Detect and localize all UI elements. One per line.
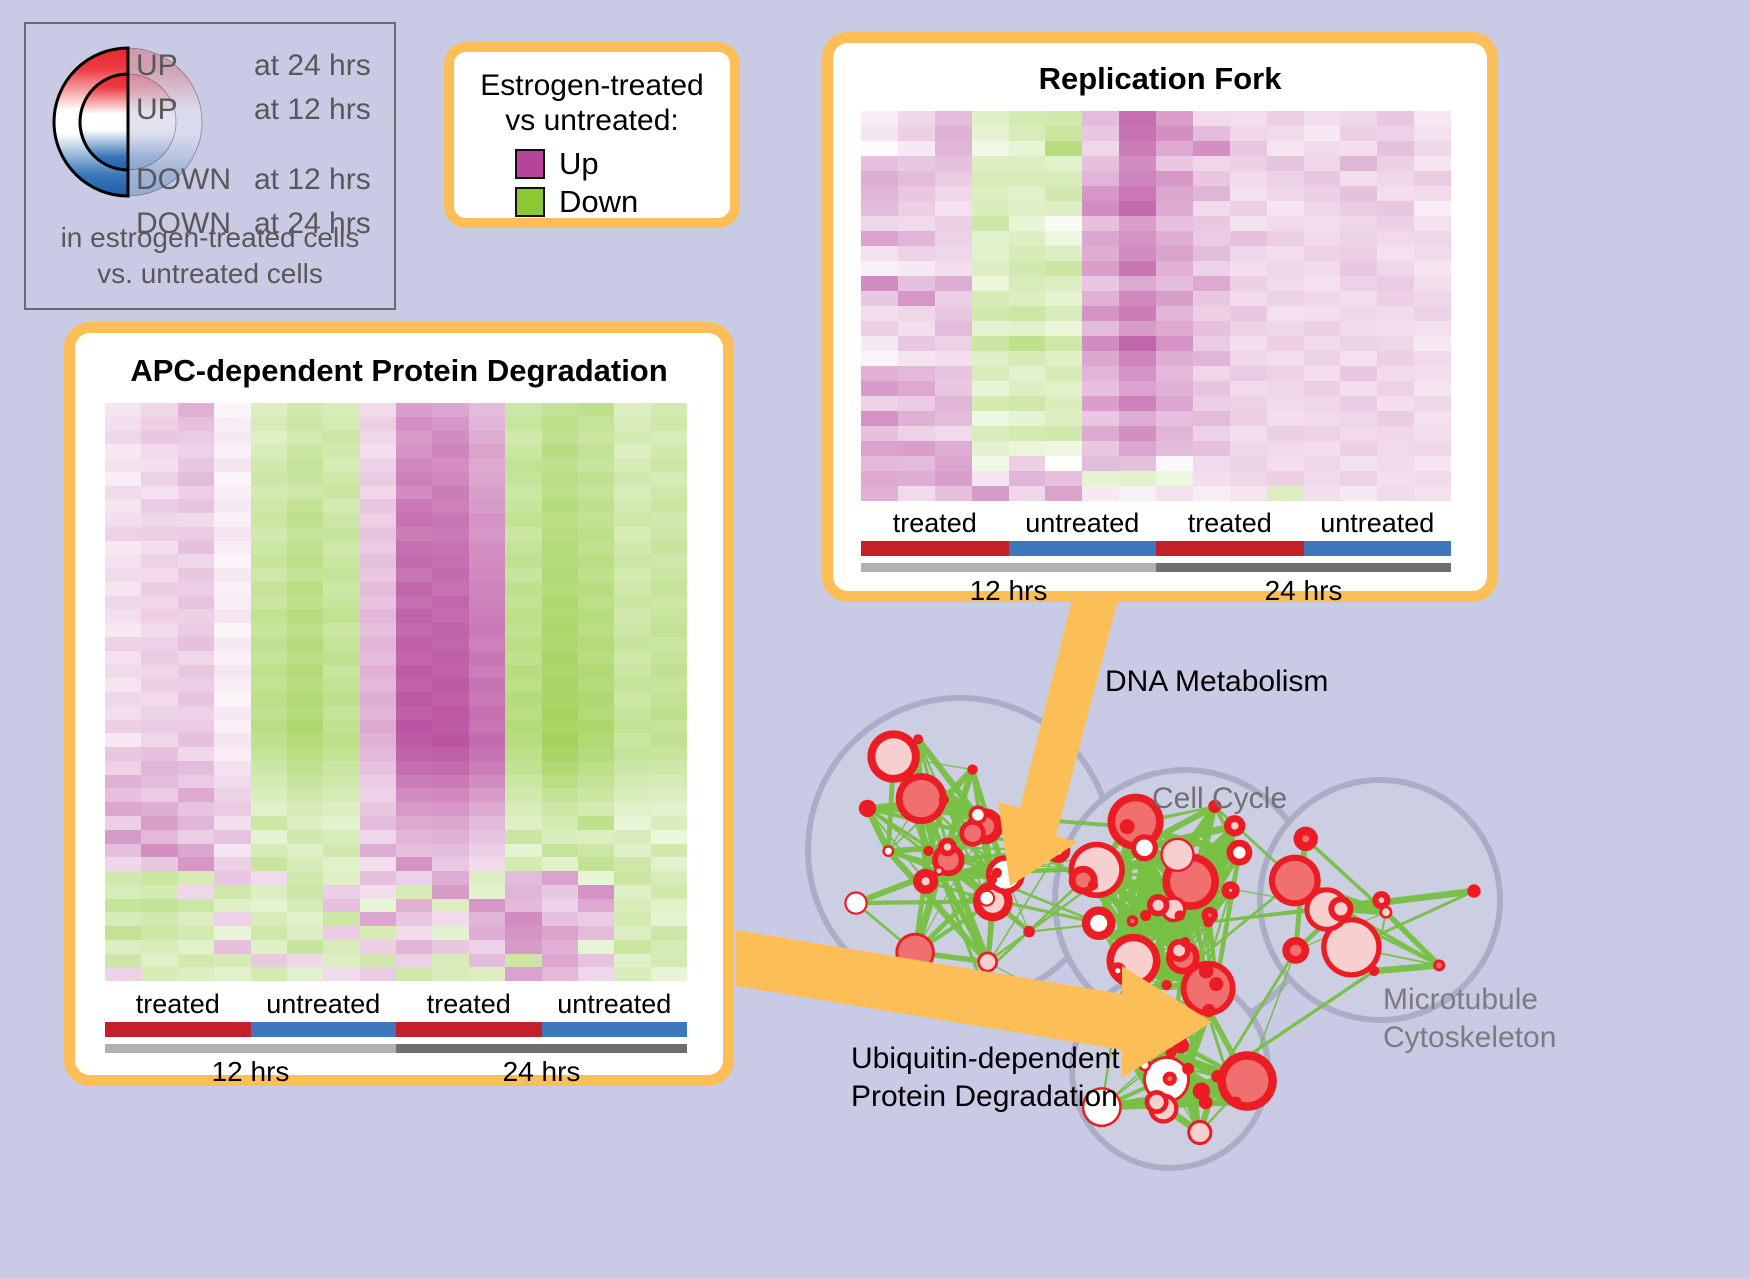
heatmap-cell <box>1082 351 1119 366</box>
heatmap-cell <box>614 554 650 568</box>
group-bar-segment <box>1304 541 1452 556</box>
heatmap-row <box>105 899 687 913</box>
heatmap-cell <box>432 816 468 830</box>
heatmap-cell <box>105 472 141 486</box>
network-node-core <box>1302 835 1309 842</box>
heatmap-cell <box>1377 321 1414 336</box>
heatmap-cell <box>1119 111 1156 126</box>
heatmap-cell <box>1045 291 1082 306</box>
heatmap-cell <box>651 554 687 568</box>
heatmap-cell <box>651 403 687 417</box>
time-label: 24 hrs <box>396 1056 687 1088</box>
heatmap-cell <box>396 775 432 789</box>
network-node-core <box>1233 847 1245 859</box>
heatmap-cell <box>1156 471 1193 486</box>
heatmap-cell <box>651 444 687 458</box>
heatmap-cell <box>1304 186 1341 201</box>
heatmap-cell <box>323 678 359 692</box>
heatmap-cell <box>287 788 323 802</box>
heatmap-cell <box>105 527 141 541</box>
heatmap-cell <box>1377 216 1414 231</box>
heatmap-cell <box>1119 426 1156 441</box>
network-node[interactable] <box>1182 1063 1194 1075</box>
heatmap-cell <box>141 912 177 926</box>
heatmap-cell <box>542 788 578 802</box>
heatmap-cell <box>178 665 214 679</box>
heatmap-cell <box>614 954 650 968</box>
heatmap-cell <box>178 733 214 747</box>
network-node[interactable] <box>1105 1024 1121 1040</box>
heatmap-cell <box>1230 276 1267 291</box>
heatmap-cell <box>505 417 541 431</box>
heatmap-cell <box>1377 441 1414 456</box>
heatmap-row <box>861 366 1451 381</box>
heatmap-cell <box>861 216 898 231</box>
heatmap-cell <box>614 844 650 858</box>
heatmap-cell <box>898 126 935 141</box>
heatmap-cell <box>578 885 614 899</box>
heatmap-cell <box>505 830 541 844</box>
heatmap-cell <box>360 830 396 844</box>
heatmap-cell <box>396 940 432 954</box>
heatmap-cell <box>505 775 541 789</box>
network-node[interactable] <box>1231 1097 1242 1108</box>
heatmap-cell <box>469 720 505 734</box>
heatmap-cell <box>178 431 214 445</box>
heatmap-cell <box>432 885 468 899</box>
heatmap-cell <box>1009 321 1046 336</box>
heatmap-cell <box>1340 126 1377 141</box>
heatmap-cell <box>1267 171 1304 186</box>
heatmap-cell <box>505 665 541 679</box>
heatmap-cell <box>1193 456 1230 471</box>
heatmap-cell <box>1156 426 1193 441</box>
heatmap-cell <box>214 513 250 527</box>
heatmap-cell <box>105 857 141 871</box>
network-node[interactable] <box>923 846 933 856</box>
heatmap-row <box>105 926 687 940</box>
network-node[interactable] <box>1211 1070 1224 1083</box>
heatmap-cell <box>469 541 505 555</box>
heatmap-cell <box>105 954 141 968</box>
heatmap-cell <box>1082 246 1119 261</box>
heatmap-cell <box>396 816 432 830</box>
network-node-core <box>937 868 942 873</box>
heatmap-cell <box>1119 276 1156 291</box>
heatmap-cell <box>432 637 468 651</box>
heatmap-cell <box>1119 231 1156 246</box>
heatmap-cell <box>542 844 578 858</box>
heatmap-cell <box>214 912 250 926</box>
heatmap-cell <box>1009 306 1046 321</box>
heatmap-cell <box>651 747 687 761</box>
heatmap-cell <box>251 720 287 734</box>
network-node[interactable] <box>1209 977 1223 991</box>
heatmap-cell <box>360 582 396 596</box>
heatmap-cell <box>542 857 578 871</box>
heatmap-cell <box>1009 411 1046 426</box>
heatmap-cell <box>287 554 323 568</box>
network-node-core <box>1130 919 1134 923</box>
heatmap-cell <box>651 788 687 802</box>
heatmap-cell <box>578 899 614 913</box>
heatmap-cell <box>251 568 287 582</box>
heatmap-cell <box>505 637 541 651</box>
heatmap-cell <box>935 336 972 351</box>
group-bar-segment <box>861 541 1009 556</box>
heatmap-cell <box>105 967 141 981</box>
heatmap-cell <box>105 788 141 802</box>
heatmap-cell <box>432 417 468 431</box>
heatmap-cell <box>1267 216 1304 231</box>
heatmap-cell <box>505 733 541 747</box>
heatmap-cell <box>323 472 359 486</box>
network-node[interactable] <box>1369 966 1379 976</box>
heatmap-cell <box>1304 321 1341 336</box>
heatmap-cell <box>141 899 177 913</box>
heatmap-cell <box>214 954 250 968</box>
heatmap-cell <box>651 692 687 706</box>
heatmap-cell <box>141 954 177 968</box>
heatmap-cell <box>614 472 650 486</box>
heatmap-cell <box>1414 351 1451 366</box>
heatmap-cell <box>651 609 687 623</box>
heatmap-cell <box>578 844 614 858</box>
heatmap-cell <box>972 201 1009 216</box>
heatmap-cell <box>396 830 432 844</box>
network-node[interactable] <box>1023 926 1035 938</box>
network-node[interactable] <box>1203 917 1213 927</box>
heatmap-cell <box>1045 201 1082 216</box>
heatmap-cell <box>614 403 650 417</box>
heatmap-cell <box>614 871 650 885</box>
heatmap-cell <box>432 733 468 747</box>
heatmap-cell <box>469 623 505 637</box>
heatmap-cell <box>287 609 323 623</box>
group-bar-segment <box>1156 541 1304 556</box>
heatmap-cell <box>1045 171 1082 186</box>
heatmap-cell <box>360 499 396 513</box>
heatmap-cell <box>105 733 141 747</box>
network-node-core <box>847 894 866 913</box>
heatmap-cell <box>1082 141 1119 156</box>
heatmap-cell <box>141 609 177 623</box>
cluster-label-ubiquitin-degradation: Ubiquitin-dependent Protein Degradation <box>851 1040 1120 1116</box>
heatmap-cell <box>505 954 541 968</box>
heatmap-cell <box>1377 276 1414 291</box>
heatmap-cell <box>432 499 468 513</box>
heatmap-cell <box>972 426 1009 441</box>
heatmap-cell <box>505 651 541 665</box>
heatmap-cell <box>141 775 177 789</box>
heatmap-cell <box>1045 186 1082 201</box>
heatmap-cell <box>972 441 1009 456</box>
heatmap-cell <box>614 857 650 871</box>
heatmap-row <box>105 830 687 844</box>
heatmap-cell <box>1119 201 1156 216</box>
heatmap-cell <box>1340 306 1377 321</box>
heatmap-cell <box>935 411 972 426</box>
heatmap-cell <box>1045 246 1082 261</box>
heatmap-cell <box>1230 261 1267 276</box>
heatmap-row <box>105 403 687 417</box>
heatmap-cell <box>1193 396 1230 411</box>
heatmap-cell <box>614 431 650 445</box>
estrogen-legend-title: Estrogen-treated vs untreated: <box>454 68 730 139</box>
heatmap-cell <box>861 186 898 201</box>
heatmap-cell <box>396 623 432 637</box>
heatmap-cell <box>105 499 141 513</box>
heatmap-cell <box>1230 186 1267 201</box>
heatmap-cell <box>1009 486 1046 501</box>
network-node[interactable] <box>987 875 997 885</box>
heatmap-cell <box>651 417 687 431</box>
heatmap-cell <box>287 596 323 610</box>
heatmap-cell <box>323 954 359 968</box>
heatmap-row <box>105 609 687 623</box>
heatmap-cell <box>469 857 505 871</box>
heatmap-cell <box>251 747 287 761</box>
heatmap-cell <box>214 816 250 830</box>
heatmap-cell <box>1156 411 1193 426</box>
heatmap-cell <box>898 276 935 291</box>
heatmap-cell <box>469 637 505 651</box>
network-node[interactable] <box>1088 880 1098 890</box>
heatmap-cell <box>651 527 687 541</box>
heatmap-cell <box>251 582 287 596</box>
heatmap-cell <box>396 844 432 858</box>
heatmap-cell <box>651 720 687 734</box>
heatmap-cell <box>935 261 972 276</box>
network-node-core <box>972 809 984 821</box>
network-node[interactable] <box>913 734 923 744</box>
network-node[interactable] <box>1199 1096 1213 1110</box>
heatmap-cell <box>651 899 687 913</box>
heatmap-cell <box>614 499 650 513</box>
heatmap-row <box>105 816 687 830</box>
heatmap-cell <box>1267 441 1304 456</box>
heatmap-cell <box>469 665 505 679</box>
heatmap-cell <box>469 747 505 761</box>
heatmap-cell <box>505 403 541 417</box>
cluster-label-cell-cycle: Cell Cycle <box>1152 782 1287 816</box>
heatmap-cell <box>323 899 359 913</box>
heatmap-cell <box>1230 321 1267 336</box>
heatmap-cell <box>578 788 614 802</box>
heatmap-cell <box>251 788 287 802</box>
heatmap-cell <box>935 441 972 456</box>
network-node[interactable] <box>1180 937 1190 947</box>
network-node[interactable] <box>1166 1047 1177 1058</box>
heatmap-cell <box>1119 486 1156 501</box>
network-node[interactable] <box>1120 819 1135 834</box>
network-node-core <box>1229 889 1232 892</box>
apc-axis: treated untreated treated untreated 12 h… <box>105 989 687 1088</box>
heatmap-cell <box>1340 276 1377 291</box>
heatmap-cell <box>1156 441 1193 456</box>
heatmap-cell <box>1230 456 1267 471</box>
heatmap-cell <box>505 431 541 445</box>
heatmap-row <box>105 665 687 679</box>
heatmap-cell <box>432 926 468 940</box>
heatmap-cell <box>861 126 898 141</box>
heatmap-cell <box>614 802 650 816</box>
heatmap-cell <box>651 926 687 940</box>
column-label: treated <box>105 989 251 1020</box>
cluster-label-dna-metabolism: DNA Metabolism <box>1105 665 1328 699</box>
heatmap-cell <box>1156 456 1193 471</box>
heatmap-cell <box>469 609 505 623</box>
heatmap-cell <box>469 871 505 885</box>
heatmap-cell <box>542 733 578 747</box>
heatmap-cell <box>1414 336 1451 351</box>
network-node[interactable] <box>1175 910 1185 920</box>
heatmap-cell <box>1045 441 1082 456</box>
heatmap-cell <box>396 692 432 706</box>
network-node-core <box>1149 1095 1163 1109</box>
heatmap-cell <box>505 568 541 582</box>
heatmap-cell <box>251 733 287 747</box>
network-node[interactable] <box>1202 1004 1215 1017</box>
heatmap-cell <box>651 885 687 899</box>
heatmap-cell <box>396 582 432 596</box>
heatmap-cell <box>323 486 359 500</box>
heatmap-cell <box>542 596 578 610</box>
heatmap-cell <box>178 816 214 830</box>
heatmap-cell <box>360 706 396 720</box>
heatmap-cell <box>1304 351 1341 366</box>
heatmap-cell <box>1009 291 1046 306</box>
heatmap-cell <box>861 291 898 306</box>
heatmap-cell <box>1414 156 1451 171</box>
heatmap-cell <box>651 802 687 816</box>
heatmap-cell <box>972 366 1009 381</box>
heatmap-cell <box>214 486 250 500</box>
heatmap-cell <box>178 857 214 871</box>
heatmap-cell <box>651 816 687 830</box>
heatmap-cell <box>1377 111 1414 126</box>
network-node[interactable] <box>1467 884 1480 897</box>
heatmap-cell <box>287 623 323 637</box>
heatmap-cell <box>251 954 287 968</box>
heatmap-cell <box>323 431 359 445</box>
heatmap-row <box>105 775 687 789</box>
heatmap-cell <box>360 802 396 816</box>
column-label: untreated <box>251 989 397 1020</box>
heatmap-cell <box>542 871 578 885</box>
heatmap-cell <box>323 623 359 637</box>
heatmap-cell <box>323 885 359 899</box>
heatmap-cell <box>542 431 578 445</box>
network-node[interactable] <box>1199 964 1214 979</box>
heatmap-cell <box>323 582 359 596</box>
heatmap-cell <box>1156 141 1193 156</box>
heatmap-cell <box>1414 276 1451 291</box>
time-bar-segment <box>1156 563 1451 572</box>
network-node[interactable] <box>1140 910 1151 921</box>
heatmap-row <box>105 651 687 665</box>
heatmap-cell <box>1082 111 1119 126</box>
heatmap-cell <box>1009 111 1046 126</box>
heatmap-cell <box>1414 441 1451 456</box>
heatmap-cell <box>1340 336 1377 351</box>
network-node[interactable] <box>859 800 876 817</box>
heatmap-cell <box>1340 171 1377 186</box>
heatmap-cell <box>105 926 141 940</box>
heatmap-cell <box>214 527 250 541</box>
heatmap-cell <box>1156 231 1193 246</box>
network-node[interactable] <box>1134 985 1144 995</box>
heatmap-cell <box>141 692 177 706</box>
network-node[interactable] <box>967 764 977 774</box>
heatmap-cell <box>1340 246 1377 261</box>
heatmap-cell <box>141 499 177 513</box>
heatmap-cell <box>287 541 323 555</box>
heatmap-cell <box>542 885 578 899</box>
heatmap-cell <box>578 637 614 651</box>
heatmap-cell <box>178 637 214 651</box>
heatmap-cell <box>1009 366 1046 381</box>
heatmap-cell <box>360 692 396 706</box>
heatmap-row <box>861 276 1451 291</box>
heatmap-cell <box>287 651 323 665</box>
heatmap-cell <box>251 486 287 500</box>
legend-row: UP at 24 hrs <box>136 44 394 88</box>
heatmap-cell <box>141 747 177 761</box>
heatmap-cell <box>214 926 250 940</box>
heatmap-cell <box>1267 126 1304 141</box>
heatmap-row <box>105 513 687 527</box>
heatmap-cell <box>323 844 359 858</box>
heatmap-cell <box>542 472 578 486</box>
heatmap-cell <box>1304 306 1341 321</box>
heatmap-row <box>861 231 1451 246</box>
heatmap-cell <box>578 444 614 458</box>
heatmap-cell <box>1267 276 1304 291</box>
heatmap-cell <box>1267 381 1304 396</box>
heatmap-cell <box>614 513 650 527</box>
heatmap-cell <box>935 396 972 411</box>
heatmap-cell <box>1340 456 1377 471</box>
heatmap-cell <box>287 706 323 720</box>
heatmap-cell <box>1414 246 1451 261</box>
heatmap-cell <box>1119 306 1156 321</box>
heatmap-cell <box>1045 216 1082 231</box>
network-node[interactable] <box>1161 980 1171 990</box>
network-node[interactable] <box>939 795 949 805</box>
heatmap-cell <box>1267 486 1304 501</box>
heatmap-cell <box>1082 186 1119 201</box>
heatmap-cell <box>542 775 578 789</box>
legend-direction-label: UP <box>136 51 254 81</box>
heatmap-cell <box>469 417 505 431</box>
heatmap-cell <box>396 857 432 871</box>
heatmap-cell <box>542 513 578 527</box>
heatmap-cell <box>1230 201 1267 216</box>
cluster-label-microtubule-cytoskeleton: Microtubule Cytoskeleton <box>1383 981 1556 1057</box>
heatmap-cell <box>105 816 141 830</box>
network-node-core <box>1382 908 1390 916</box>
heatmap-cell <box>178 609 214 623</box>
heatmap-cell <box>1156 396 1193 411</box>
heatmap-cell <box>360 761 396 775</box>
heatmap-cell <box>1267 246 1304 261</box>
heatmap-cell <box>578 527 614 541</box>
heatmap-cell <box>542 403 578 417</box>
heatmap-cell <box>1082 321 1119 336</box>
panel-title: APC-dependent Protein Degradation <box>75 333 723 389</box>
heatmap-cell <box>614 885 650 899</box>
